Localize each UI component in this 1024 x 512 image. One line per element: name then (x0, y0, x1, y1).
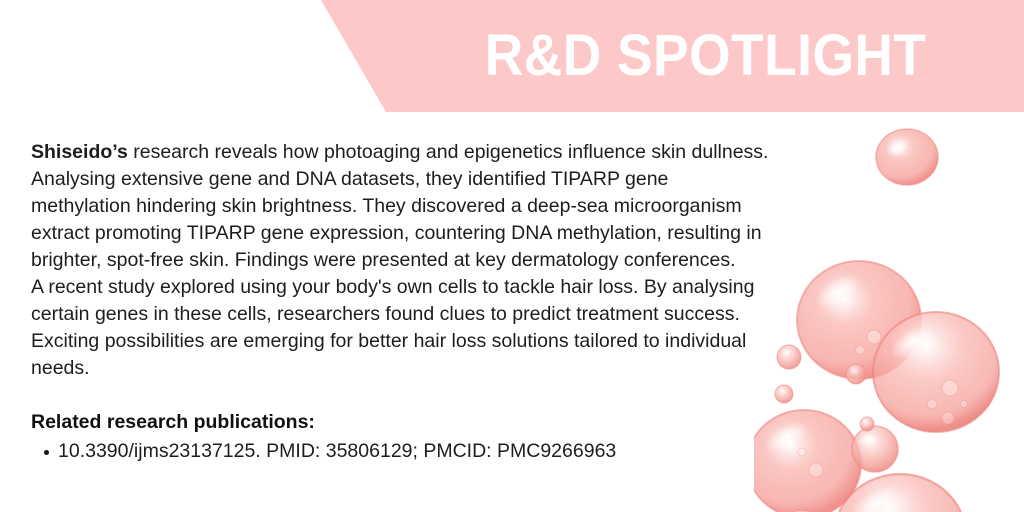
section-spacer (31, 382, 771, 409)
article-body: Shiseido’s research reveals how photoagi… (31, 139, 771, 382)
content-column: Shiseido’s research reveals how photoagi… (31, 139, 771, 465)
lead-brand-name: Shiseido’s (31, 141, 128, 163)
rd-spotlight-slide: R&D SPOTLIGHT (0, 0, 1024, 512)
paragraph-1-text: research reveals how photoaging and epig… (31, 141, 768, 271)
publications-heading: Related research publications: (31, 409, 771, 436)
list-item[interactable]: 10.3390/ijms23137125. PMID: 35806129; PM… (31, 438, 771, 465)
publications-list: 10.3390/ijms23137125. PMID: 35806129; PM… (31, 438, 771, 465)
paragraph-1: Shiseido’s research reveals how photoagi… (31, 139, 771, 274)
paragraph-2: A recent study explored using your body'… (31, 274, 771, 382)
page-title: R&D SPOTLIGHT (82, 0, 1024, 112)
pink-bubbles-illustration (754, 112, 1024, 512)
